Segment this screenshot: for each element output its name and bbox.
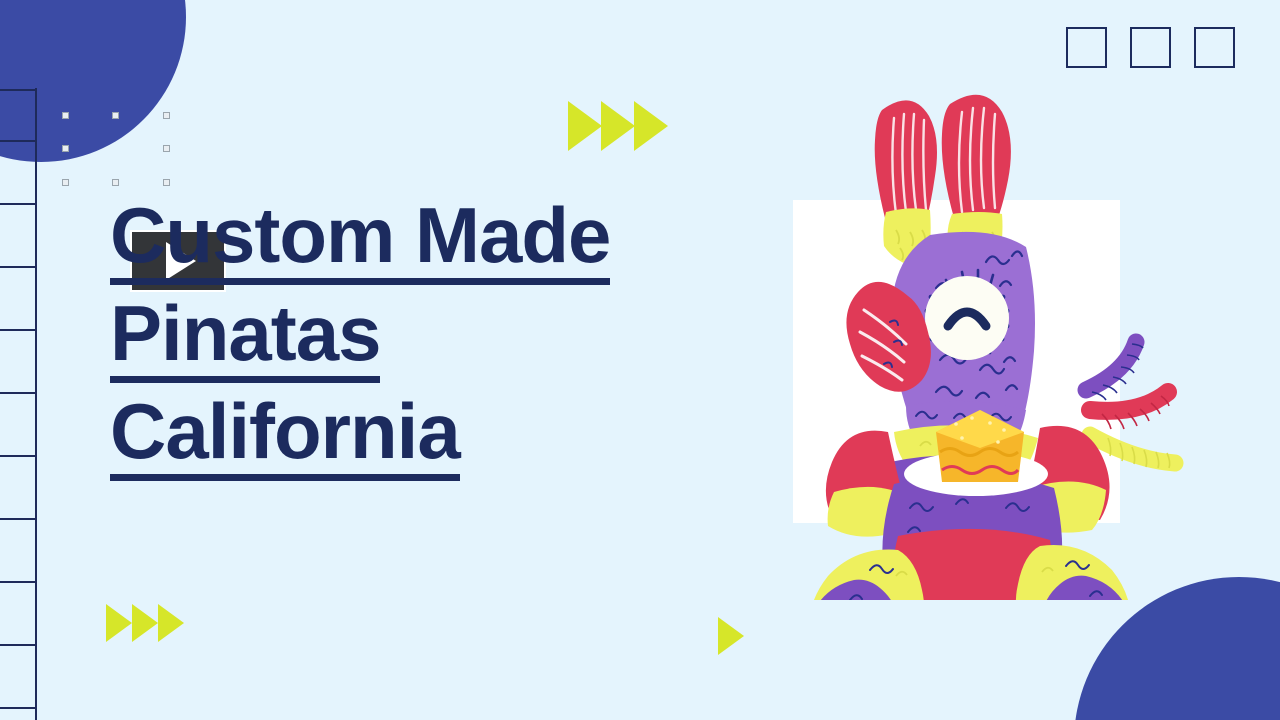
arrow-triangle-icon <box>158 604 184 642</box>
grid-horizontal-line <box>0 329 36 331</box>
grid-horizontal-line <box>0 644 36 646</box>
arrow-triangle-icon <box>132 604 158 642</box>
left-margin-grid <box>0 0 36 720</box>
page-title[interactable]: Custom Made Pinatas California <box>110 196 730 490</box>
grid-vertical-line <box>35 88 37 720</box>
title-line-1-row: Custom Made <box>110 196 730 294</box>
arrow-triangle-icon <box>106 604 132 642</box>
title-line-3: California <box>110 392 460 481</box>
grid-horizontal-line <box>0 455 36 457</box>
square-outline-2[interactable] <box>1130 27 1171 68</box>
arrow-triangle-icon <box>601 101 635 151</box>
grid-horizontal-line <box>0 581 36 583</box>
grid-horizontal-line <box>0 707 36 709</box>
selection-handle-ne[interactable] <box>163 112 170 119</box>
selection-handle-e[interactable] <box>163 145 170 152</box>
selection-handle-n[interactable] <box>112 112 119 119</box>
arrow-triangle-icon <box>568 101 602 151</box>
video-placeholder[interactable] <box>62 112 170 186</box>
selection-handle-w[interactable] <box>62 145 69 152</box>
pinata-donkey-illustration <box>790 80 1190 600</box>
slide-canvas: Custom Made Pinatas California <box>0 0 1280 720</box>
title-line-2: Pinatas <box>110 294 380 383</box>
grid-horizontal-line <box>0 518 36 520</box>
single-arrow-triangle-icon <box>718 617 744 655</box>
arrow-triangle-icon <box>634 101 668 151</box>
grid-horizontal-line <box>0 392 36 394</box>
grid-horizontal-line <box>0 203 36 205</box>
title-line-1: Custom Made <box>110 196 610 285</box>
pinata-tail <box>1086 342 1175 468</box>
selection-handle-nw[interactable] <box>62 112 69 119</box>
title-line-2-row: Pinatas <box>110 294 730 392</box>
grid-horizontal-line <box>0 266 36 268</box>
selection-handle-se[interactable] <box>163 179 170 186</box>
grid-horizontal-line <box>0 89 36 91</box>
selection-handle-s[interactable] <box>112 179 119 186</box>
square-outline-3[interactable] <box>1194 27 1235 68</box>
selection-handle-sw[interactable] <box>62 179 69 186</box>
square-outline-1[interactable] <box>1066 27 1107 68</box>
title-line-3-row: California <box>110 392 730 490</box>
grid-horizontal-line <box>0 140 36 142</box>
